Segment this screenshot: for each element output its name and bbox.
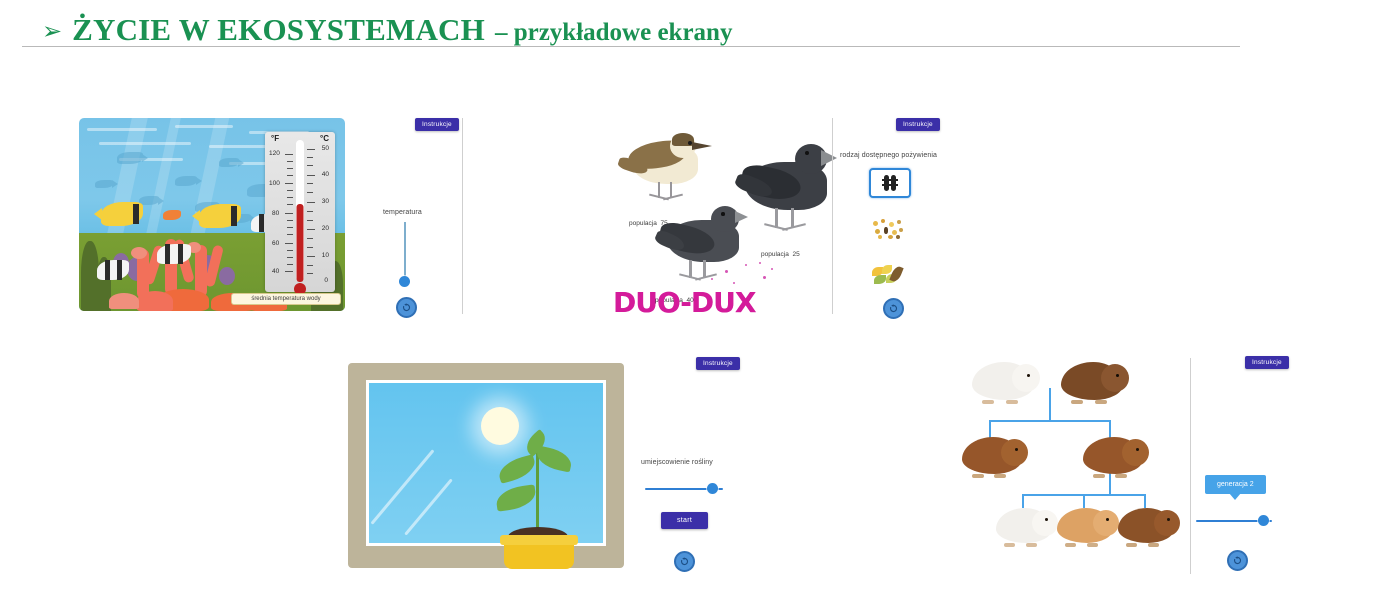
- pedigree-line: [1109, 420, 1111, 438]
- reset-button-plant[interactable]: [674, 551, 695, 572]
- bird-2-population-label: populacja 25: [761, 251, 800, 258]
- pedigree-line: [989, 420, 1111, 422]
- thermometer-widget: °F °C 120 100 80 60 40 50 40 30 20 10 0: [265, 132, 335, 292]
- gpig-dark-brown: [1118, 508, 1174, 543]
- mixed-seeds-food-card[interactable]: [869, 216, 907, 242]
- c-tick-0: 0: [324, 277, 328, 284]
- bird-black-small-image: [655, 200, 755, 300]
- plant-stem: [536, 451, 539, 533]
- plant-position-slider-label: umiejscowienie rośliny: [641, 459, 713, 466]
- reset-button-reef[interactable]: [396, 297, 417, 318]
- f-tick-60: 60: [272, 240, 279, 247]
- temperature-slider-knob[interactable]: [399, 276, 410, 287]
- instructions-button-plant[interactable]: Instrukcje: [696, 357, 740, 370]
- finches-panel-divider: [832, 118, 833, 314]
- large-seeds-food-card[interactable]: [869, 262, 907, 288]
- f-tick-40: 40: [272, 268, 279, 275]
- title-subtitle-text: – przykładowe ekrany: [495, 19, 733, 47]
- insect-icon: [884, 175, 889, 191]
- watermark-text: DUO-DUX: [613, 286, 756, 319]
- thermometer-mercury: [297, 204, 304, 282]
- gpig-dark-brown: [1061, 362, 1123, 400]
- reset-circular-arrow-icon: [1233, 556, 1242, 565]
- plant-position-slider-knob[interactable]: [707, 483, 718, 494]
- page-title: ➢ ŻYCIE W EKOSYSTEMACH – przykładowe ekr…: [42, 12, 1282, 48]
- instructions-button-finches[interactable]: Instrukcje: [896, 118, 940, 131]
- c-tick-10: 10: [322, 252, 329, 259]
- start-button[interactable]: start: [661, 512, 708, 529]
- pedigree-line: [989, 420, 991, 438]
- title-underline-rule: [22, 46, 1240, 47]
- thermometer-unit-fahrenheit: °F: [271, 134, 279, 143]
- instructions-button-reef[interactable]: Instrukcje: [415, 118, 459, 131]
- window-frame-image: [348, 363, 624, 568]
- thermometer-tube: [296, 140, 304, 282]
- temperature-slider-track[interactable]: [404, 222, 406, 280]
- reset-button-guinea-pigs[interactable]: [1227, 550, 1248, 571]
- pedigree-line: [1083, 494, 1085, 508]
- watermark-duo-dux: DUO-DUX: [613, 286, 793, 326]
- pedigree-line: [1022, 494, 1024, 508]
- gpig-white: [972, 362, 1034, 400]
- food-type-label: rodzaj dostępnego pożywienia: [840, 152, 937, 159]
- reset-circular-arrow-icon: [402, 303, 411, 312]
- reset-circular-arrow-icon: [889, 304, 898, 313]
- reset-circular-arrow-icon: [680, 557, 689, 566]
- f-tick-120: 120: [269, 150, 280, 157]
- insects-food-card[interactable]: [869, 168, 911, 198]
- reef-panel-divider: [462, 118, 463, 314]
- c-tick-20: 20: [322, 225, 329, 232]
- gpig-light-brown: [1057, 508, 1113, 543]
- reef-scene-image: °F °C 120 100 80 60 40 50 40 30 20 10 0: [79, 118, 345, 311]
- flower-pot-rim: [500, 535, 578, 545]
- guinea-pig-panel-divider: [1190, 358, 1191, 574]
- gpig-white: [996, 508, 1052, 543]
- gpig-brown: [1083, 437, 1143, 474]
- c-tick-50: 50: [322, 145, 329, 152]
- temperature-slider-label: temperatura: [383, 209, 422, 216]
- c-tick-40: 40: [322, 171, 329, 178]
- reef-caption-water-temperature: średnia temperatura wody: [231, 293, 341, 305]
- gpig-brown: [962, 437, 1022, 474]
- title-main-text: ŻYCIE W EKOSYSTEMACH: [72, 12, 485, 48]
- instructions-button-guinea-pigs[interactable]: Instrukcje: [1245, 356, 1289, 369]
- generation-slider-knob[interactable]: [1258, 515, 1269, 526]
- bullet-arrow-icon: ➢: [42, 19, 62, 43]
- thermometer-unit-celsius: °C: [320, 134, 329, 143]
- f-tick-80: 80: [272, 210, 279, 217]
- pedigree-line: [1109, 472, 1111, 494]
- pedigree-line: [1049, 388, 1051, 421]
- reset-button-finches[interactable]: [883, 298, 904, 319]
- f-tick-100: 100: [269, 180, 280, 187]
- c-tick-30: 30: [322, 198, 329, 205]
- pedigree-line: [1144, 494, 1146, 508]
- insect-icon: [891, 175, 896, 191]
- sun-icon: [481, 407, 519, 445]
- generation-tooltip: generacja 2: [1205, 475, 1266, 494]
